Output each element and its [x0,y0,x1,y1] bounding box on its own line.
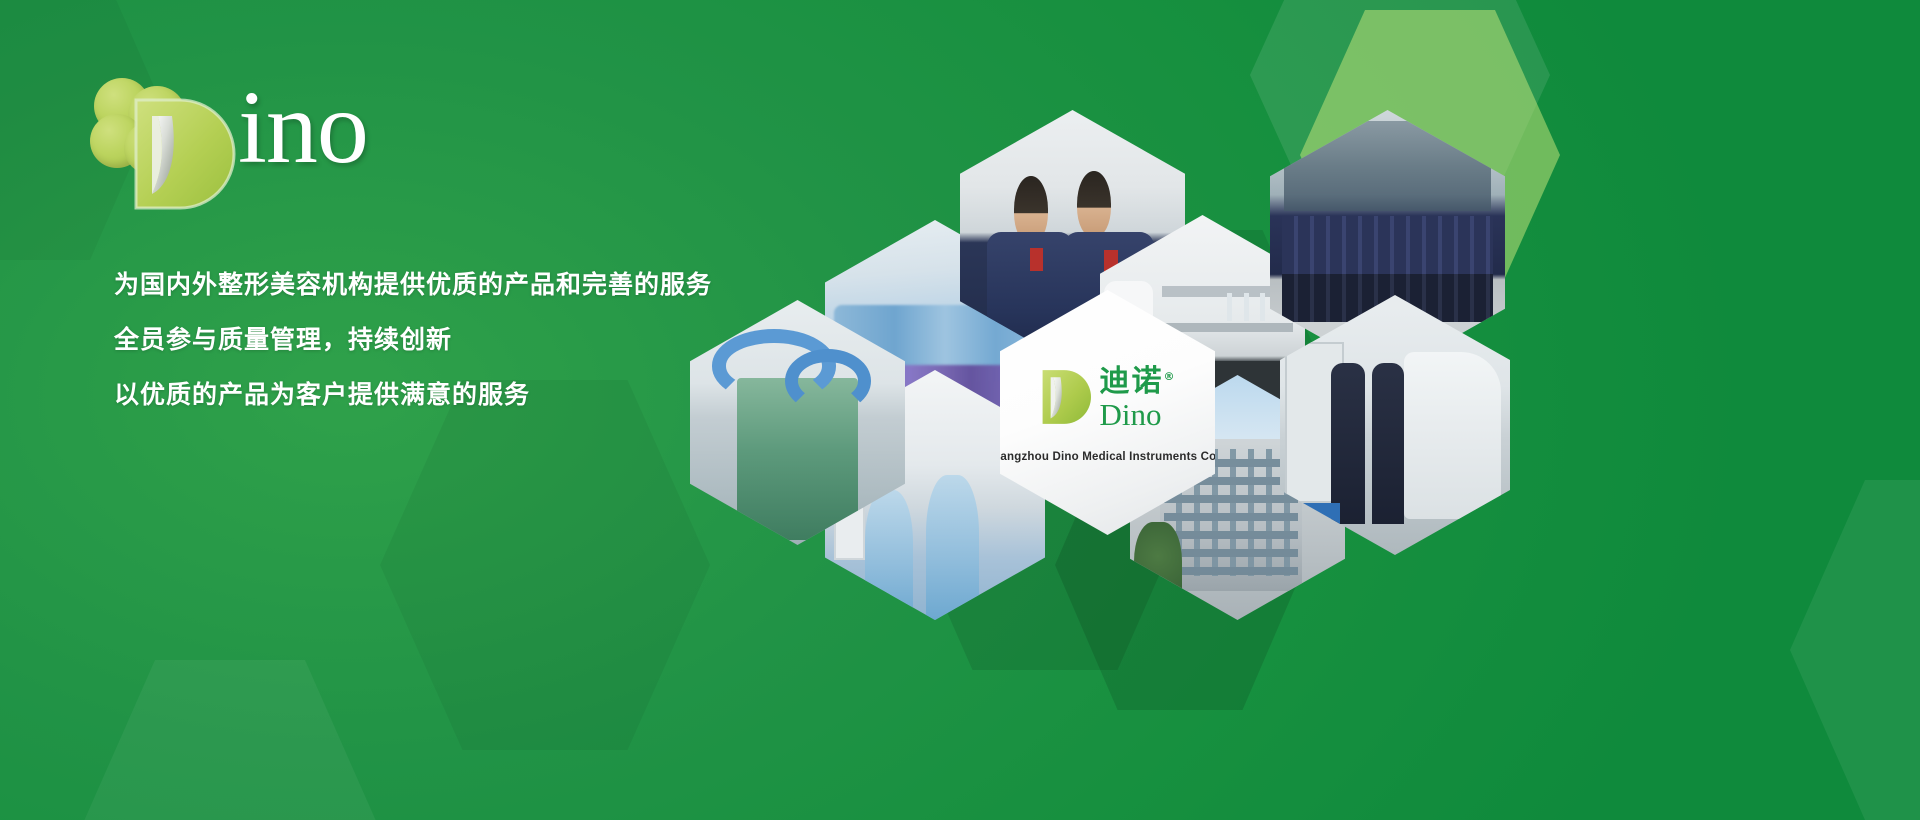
bg-hexagon-dark-bottom [80,660,380,820]
dino-d-mark-icon [128,94,243,212]
center-card-company-name: Hangzhou Dino Medical Instruments Co.. [1000,451,1215,463]
hero-banner: ino 为国内外整形美容机构提供优质的产品和完善的服务 全员参与质量管理，持续创… [0,0,1920,820]
center-card-logo-cn: 迪诺® [1100,362,1177,397]
center-card-logo: 迪诺® Dino [1039,362,1177,431]
registered-mark-icon: ® [1164,370,1177,383]
center-card-logo-en: Dino [1100,398,1162,431]
hexagon-photo-cluster [660,40,1920,600]
brand-wordmark: ino [238,76,368,180]
dino-d-mark-icon-small [1039,367,1091,427]
brand-logo: ino [88,72,418,182]
